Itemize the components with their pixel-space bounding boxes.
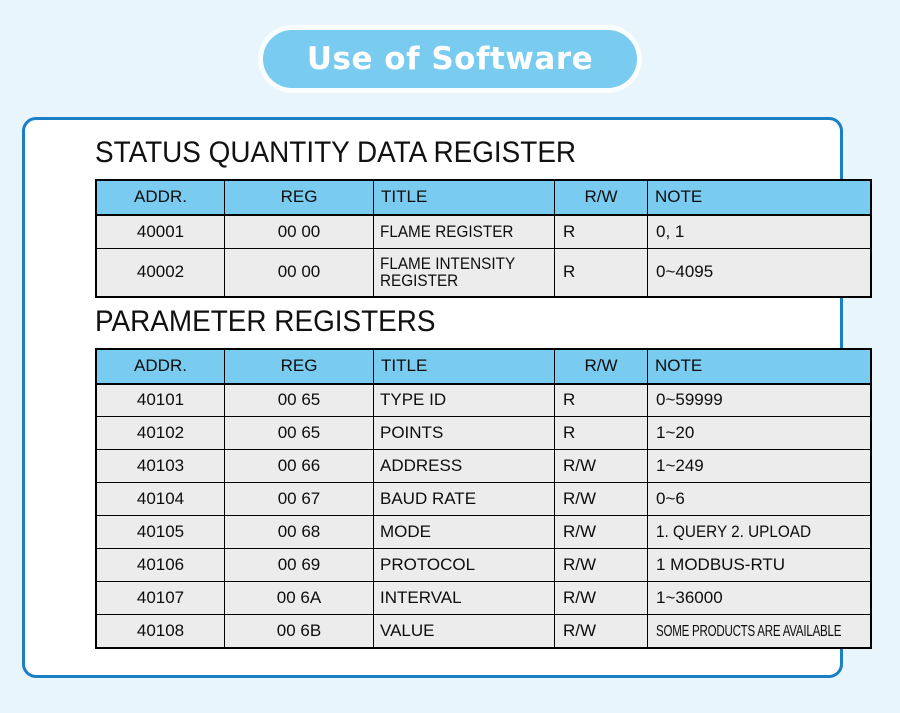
cell-reg: 00 6B [225,615,374,648]
table-header-row: ADDR. REG TITLE R/W NOTE [96,349,871,384]
cell-addr: 40106 [96,549,225,582]
cell-note: 0~4095 [648,249,872,297]
column-header-title: TITLE [374,349,555,384]
cell-title: MODE [374,516,555,549]
section-status-quantity-data-register: STATUS QUANTITY DATA REGISTER ADDR. REG … [95,137,872,298]
cell-rw: R/W [555,582,648,615]
cell-addr: 40101 [96,384,225,417]
cell-title: FLAME REGISTER [374,215,555,249]
cell-note: 0, 1 [648,215,872,249]
table-row: 40107 00 6A INTERVAL R/W 1~36000 [96,582,871,615]
table-header-row: ADDR. REG TITLE R/W NOTE [96,180,871,215]
cell-addr: 40107 [96,582,225,615]
cell-title-text: FLAME REGISTER [380,222,513,242]
cell-reg: 00 69 [225,549,374,582]
column-header-reg: REG [225,180,374,215]
cell-rw: R [555,215,648,249]
cell-note: 1 MODBUS-RTU [648,549,872,582]
table-status-quantity-data-register: ADDR. REG TITLE R/W NOTE 40001 00 00 FLA… [95,179,872,298]
cell-note: 1~249 [648,450,872,483]
cell-addr: 40104 [96,483,225,516]
cell-title: FLAME INTENSITY REGISTER [374,249,555,297]
cell-title-text: FLAME INTENSITY REGISTER [380,255,531,290]
table-row: 40102 00 65 POINTS R 1~20 [96,417,871,450]
column-header-reg: REG [225,349,374,384]
section-heading-parameter-registers: PARAMETER REGISTERS [95,306,818,338]
cell-note: 1~20 [648,417,872,450]
table-row: 40001 00 00 FLAME REGISTER R 0, 1 [96,215,871,249]
cell-title: PROTOCOL [374,549,555,582]
cell-addr: 40002 [96,249,225,297]
cell-note: 0~59999 [648,384,872,417]
table-row: 40002 00 00 FLAME INTENSITY REGISTER R 0… [96,249,871,297]
cell-note-text: SOME PRODUCTS ARE AVAILABLE [656,623,841,641]
cell-note: 1. QUERY 2. UPLOAD [648,516,872,549]
cell-rw: R/W [555,516,648,549]
table-row: 40103 00 66 ADDRESS R/W 1~249 [96,450,871,483]
table-header: ADDR. REG TITLE R/W NOTE [96,349,871,384]
page-title: Use of Software [263,30,637,88]
cell-note: 1~36000 [648,582,872,615]
cell-rw: R/W [555,549,648,582]
column-header-addr: ADDR. [96,349,225,384]
column-header-rw: R/W [555,349,648,384]
cell-rw: R/W [555,450,648,483]
cell-reg: 00 66 [225,450,374,483]
column-header-note: NOTE [648,180,872,215]
cell-title: INTERVAL [374,582,555,615]
cell-reg: 00 00 [225,249,374,297]
column-header-note: NOTE [648,349,872,384]
title-banner: Use of Software [0,30,900,88]
cell-reg: 00 65 [225,384,374,417]
cell-title: ADDRESS [374,450,555,483]
cell-reg: 00 67 [225,483,374,516]
table-body: 40001 00 00 FLAME REGISTER R 0, 1 40002 … [96,215,871,297]
cell-addr: 40103 [96,450,225,483]
table-row: 40108 00 6B VALUE R/W SOME PRODUCTS ARE … [96,615,871,648]
table-body: 40101 00 65 TYPE ID R 0~59999 40102 00 6… [96,384,871,648]
table-row: 40105 00 68 MODE R/W 1. QUERY 2. UPLOAD [96,516,871,549]
cell-title: VALUE [374,615,555,648]
cell-note-text: 1. QUERY 2. UPLOAD [656,522,811,542]
table-header: ADDR. REG TITLE R/W NOTE [96,180,871,215]
cell-rw: R [555,417,648,450]
cell-note: 0~6 [648,483,872,516]
cell-addr: 40108 [96,615,225,648]
column-header-rw: R/W [555,180,648,215]
cell-rw: R/W [555,483,648,516]
content-card: STATUS QUANTITY DATA REGISTER ADDR. REG … [22,117,843,678]
cell-title: POINTS [374,417,555,450]
cell-addr: 40001 [96,215,225,249]
table-row: 40104 00 67 BAUD RATE R/W 0~6 [96,483,871,516]
column-header-title: TITLE [374,180,555,215]
cell-reg: 00 65 [225,417,374,450]
cell-reg: 00 00 [225,215,374,249]
cell-addr: 40105 [96,516,225,549]
cell-rw: R/W [555,615,648,648]
cell-note: SOME PRODUCTS ARE AVAILABLE [648,615,872,648]
table-row: 40101 00 65 TYPE ID R 0~59999 [96,384,871,417]
column-header-addr: ADDR. [96,180,225,215]
section-parameter-registers: PARAMETER REGISTERS ADDR. REG TITLE R/W … [95,306,872,649]
cell-reg: 00 6A [225,582,374,615]
cell-rw: R [555,249,648,297]
table-row: 40106 00 69 PROTOCOL R/W 1 MODBUS-RTU [96,549,871,582]
cell-title: TYPE ID [374,384,555,417]
cell-rw: R [555,384,648,417]
cell-title: BAUD RATE [374,483,555,516]
section-heading-status-quantity: STATUS QUANTITY DATA REGISTER [95,137,818,169]
cell-addr: 40102 [96,417,225,450]
cell-reg: 00 68 [225,516,374,549]
table-parameter-registers: ADDR. REG TITLE R/W NOTE 40101 00 65 TYP… [95,348,872,649]
